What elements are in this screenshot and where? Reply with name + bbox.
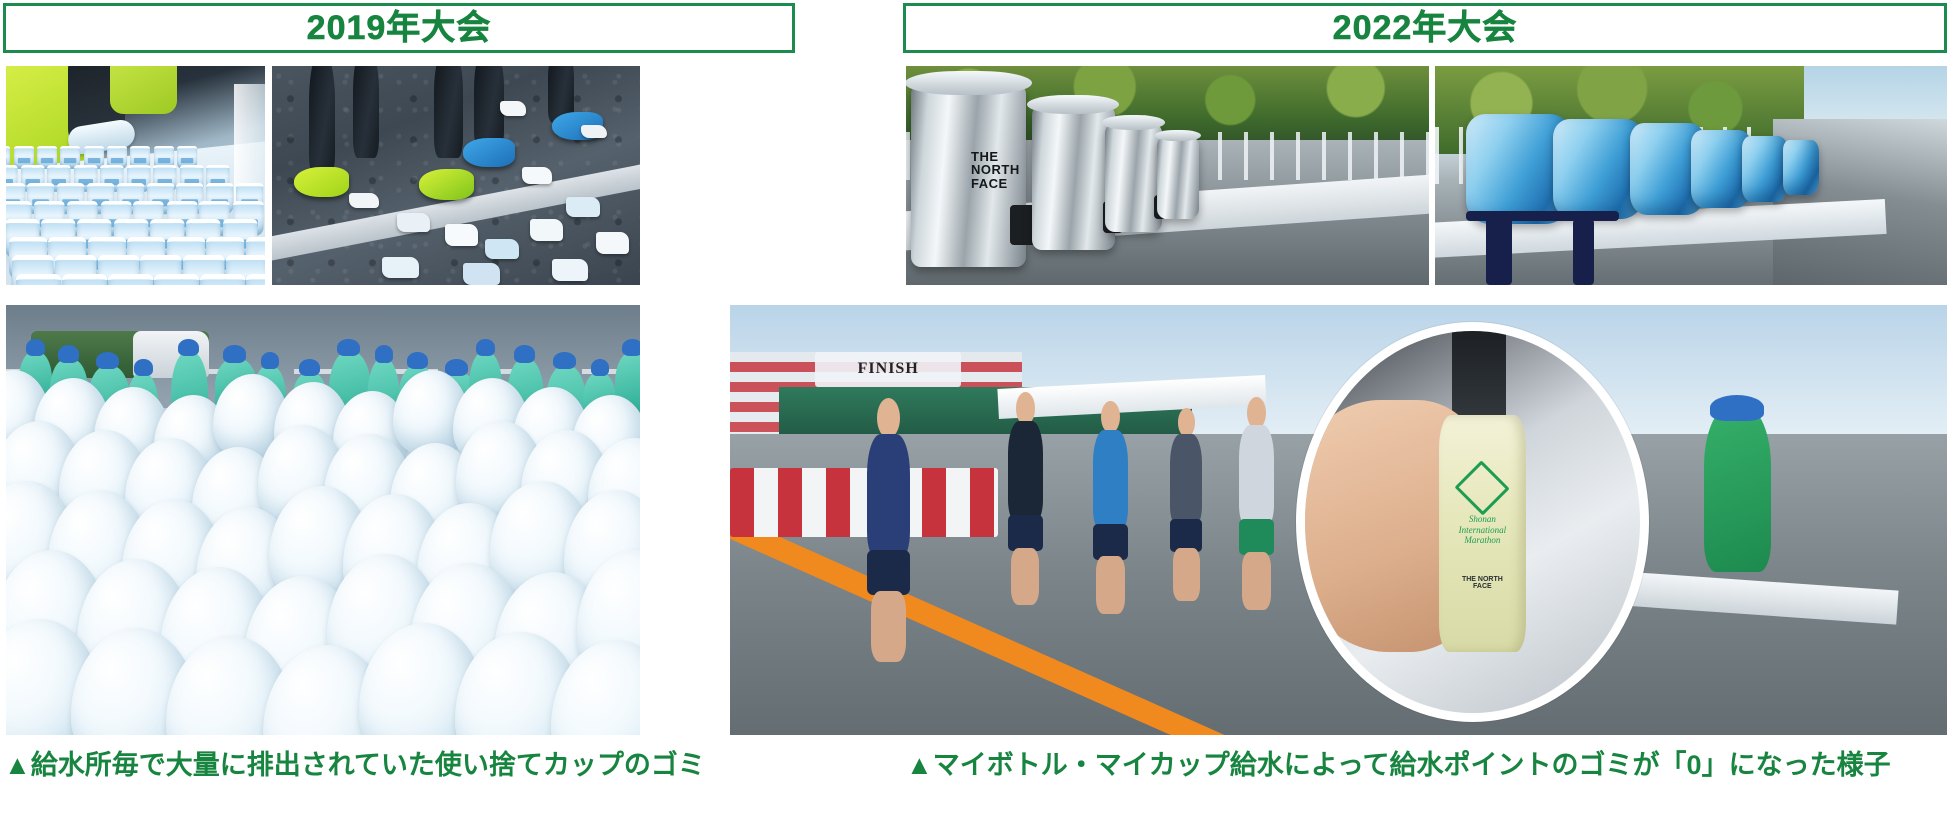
photo-shape-paper-cup [200, 274, 245, 285]
photo-shape-volunteer-cap [591, 359, 609, 376]
photo-shape-volunteer-cap [622, 339, 640, 356]
photo-runners-near-finish: FINISH [730, 305, 1947, 735]
photo-shape-runner [986, 421, 1065, 602]
photo-blue-water-jugs [1435, 66, 1947, 285]
photo-shape-volunteer-jacket-2 [110, 66, 177, 114]
photo-shape-volunteer-cap [223, 345, 246, 362]
logo-line-3: Marathon [1449, 535, 1516, 545]
photo-shape-runner-head [1101, 401, 1120, 434]
photo-shape-cup-grid [6, 140, 265, 285]
photo-shape-volunteer-cap [26, 339, 44, 356]
photo-shape-urn-lid [1155, 130, 1201, 141]
photo-shape-runner [1217, 425, 1296, 606]
photo-shape-crushed-cup [530, 219, 563, 241]
photo-shape-runner-head [877, 398, 900, 438]
photo-shape-volunteer-cap [134, 359, 152, 376]
photo-shape-volunteer-cap [337, 339, 360, 356]
caption-2022: ▲マイボトル・マイカップ給水によって給水ポイントのゴミが「0」になった様子 [906, 752, 1891, 779]
photo-shape-runner-head [1016, 392, 1035, 425]
photo-shape-water-urn [1157, 136, 1199, 219]
photo-shape-runner-legs [871, 591, 906, 663]
photo-shape-runner-shorts [1239, 519, 1274, 555]
photo-shape-running-shoe [294, 167, 349, 198]
photo-shape-paper-cup [154, 274, 199, 285]
header-box-2019: 2019年大会 [3, 3, 795, 53]
photo-shape-running-shoe [463, 138, 515, 166]
photo-shape-volunteer-cap [514, 345, 535, 362]
photo-shape-water-urn [1032, 105, 1116, 250]
photo-shape-jug-rack [1573, 219, 1593, 285]
photo-shape-volunteer-cap [261, 352, 279, 369]
shonan-marathon-logo-text: Shonan International Marathon [1449, 514, 1516, 545]
photo-shape-runner-shorts [867, 550, 910, 595]
photo-shape-crushed-cup [500, 101, 526, 116]
photo-shape-paper-cup [62, 274, 107, 285]
photo-shape-volunteer-cap [476, 339, 494, 356]
photo-shape-jug-rack [1466, 211, 1620, 222]
photo-shape-water-jug [1783, 140, 1819, 195]
caption-2019: ▲給水所毎で大量に排出されていた使い捨てカップのゴミ [4, 752, 705, 779]
photo-shape-urn-lid [1027, 95, 1119, 114]
header-box-2022: 2022年大会 [903, 3, 1947, 53]
infographic-root: 2019年大会 2022年大会 [0, 0, 1950, 823]
photo-shape-runner-torso [867, 434, 910, 559]
photo-shape-crushed-cup [566, 197, 599, 217]
photo-shape-runner [840, 434, 937, 658]
photo-shape-volunteer-cap [375, 345, 393, 362]
photo-shape-leg [353, 66, 379, 158]
photo-shape-crushed-cup [382, 257, 419, 279]
photo-shape-runner-torso [1239, 425, 1274, 526]
photo-shape-crushed-cup [397, 213, 430, 233]
logo-line-1: Shonan [1449, 514, 1516, 524]
photo-shape-crushed-cup [349, 193, 378, 208]
photo-shape-runner-torso [1093, 430, 1128, 531]
photo-shape-runner [1071, 430, 1150, 611]
photo-shape-paper-cup [246, 274, 265, 285]
photo-shape-water-jug [1742, 136, 1788, 202]
photo-shape-crushed-cup [581, 125, 607, 138]
photo-shape-runner-shorts [1170, 519, 1202, 552]
photo-shape-runner [1150, 434, 1223, 597]
photo-shape-running-shoe [419, 169, 474, 200]
photo-shape-volunteer-cap [553, 352, 576, 369]
photo-shape-volunteer-cap [407, 352, 428, 369]
photo-shape-runner-shorts [1008, 515, 1043, 551]
photo-shape-runner-legs [1173, 548, 1199, 600]
photo-runners-legs-litter-road [272, 66, 640, 285]
header-title-2022: 2022年大会 [1333, 11, 1518, 45]
photo-shape-crushed-cup [522, 167, 551, 185]
photo-shape-crushed-cup [485, 239, 518, 259]
header-title-2019: 2019年大会 [307, 11, 492, 45]
photo-shape-runner-legs [1242, 552, 1271, 610]
photo-shape-runner-legs [1096, 556, 1125, 614]
brand-label-north-face: THE NORTH FACE [971, 150, 1026, 191]
photo-pile-of-garbage-bags [6, 305, 640, 735]
brand-label-north-face: THE NORTH FACE [1456, 576, 1510, 590]
photo-shape-urn-lid [1102, 115, 1165, 129]
photo-shape-runner-head [1247, 397, 1266, 430]
photo-shape-crushed-cup [445, 224, 478, 246]
photo-shape-crushed-cup [552, 259, 589, 281]
photo-shape-volunteer-cap [96, 352, 119, 369]
photo-shape-runner-head [1178, 408, 1196, 437]
photo-shape-jug-rack [1486, 215, 1512, 285]
photo-shape-water-urn [1105, 123, 1163, 233]
photo-shape-runner-torso [1170, 434, 1202, 526]
photo-shape-paper-cup [16, 274, 61, 285]
photo-shape-runner-legs [1011, 548, 1040, 606]
inset-hand-holding-my-bottle: Shonan International Marathon THE NORTH … [1296, 322, 1649, 722]
photo-shape-volunteer-cap [299, 359, 320, 376]
photo-stainless-water-urns: THE NORTH FACE [906, 66, 1429, 285]
photo-shape-leg [434, 66, 463, 158]
photo-shape-marshal [1704, 408, 1771, 571]
photo-shape-volunteer-cap [178, 339, 199, 356]
photo-shape-leg [309, 66, 335, 176]
photo-shape-runner-torso [1008, 421, 1043, 522]
photo-shape-water-urn: THE NORTH FACE [911, 84, 1026, 268]
logo-line-2: International [1449, 525, 1516, 535]
photo-shape-crushed-cup [463, 263, 500, 285]
finish-banner-label: FINISH [858, 360, 919, 378]
photo-shape-runner-shorts [1093, 524, 1128, 560]
photo-shape-volunteer-cap [58, 345, 79, 362]
photo-shape-crushed-cup [596, 232, 629, 254]
photo-volunteers-filling-paper-cups [6, 66, 265, 285]
photo-shape-urn-lid [906, 71, 1032, 95]
photo-shape-paper-cup [108, 274, 153, 285]
finish-banner: FINISH [815, 352, 961, 386]
photo-shape-marshal-cap [1710, 395, 1765, 421]
